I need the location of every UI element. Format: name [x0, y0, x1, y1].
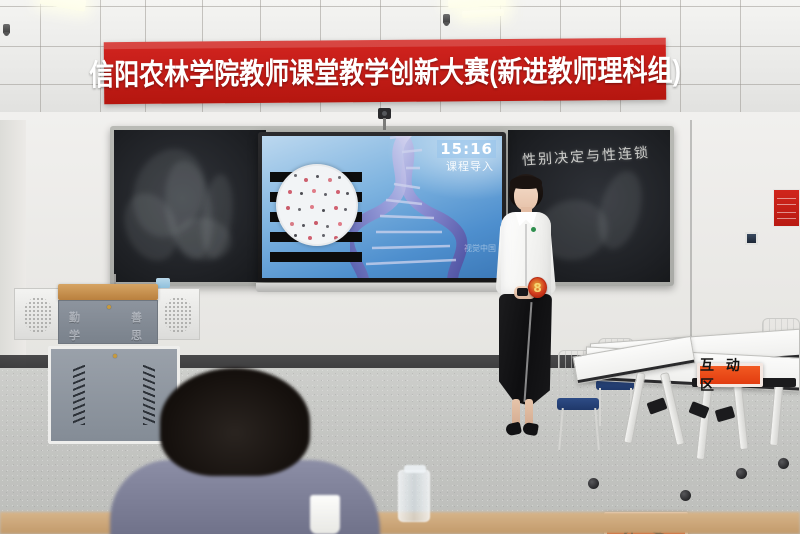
wall-notice-placard — [773, 189, 800, 227]
sprinkler-head — [443, 14, 450, 24]
presenter-shoe-left — [505, 422, 522, 437]
speaker-mesh-icon — [164, 297, 192, 333]
sign-interaction-zone: 互 动 区 — [697, 363, 763, 387]
podium-upper-panel: 勤 善 学 思 — [58, 300, 158, 344]
audience-hair — [160, 368, 310, 476]
presenter: 8 — [487, 174, 563, 436]
presentation-clicker[interactable] — [517, 288, 528, 296]
speaker-mesh-icon — [24, 297, 52, 333]
screen-clock: 15:16 — [437, 140, 496, 158]
podium-character: 思 — [131, 327, 142, 343]
table-caster — [736, 468, 747, 479]
interactive-display[interactable]: 15:16 课程导入 视觉中国 — [258, 132, 506, 282]
podium-character: 勤 — [69, 309, 80, 325]
podium-character: 学 — [69, 327, 80, 343]
podium-wood-top — [58, 284, 158, 300]
presenter-shoe-right — [522, 422, 539, 436]
sprinkler-head — [3, 24, 10, 34]
blackboard-left-panel — [114, 130, 266, 282]
classroom-photo: 信阳农林学院教师课堂教学创新大赛(新进教师理科组) 性别决定与性连锁 — [0, 0, 800, 534]
camera-mount — [383, 118, 386, 130]
blackboard-handwriting: 性别决定与性连锁 — [522, 142, 651, 170]
display-control-bar[interactable] — [256, 283, 508, 292]
sign-label: 互 动 区 — [700, 355, 760, 395]
paper-cup — [310, 495, 340, 534]
banner-text: 信阳农林学院教师课堂教学创新大赛(新进教师理科组) — [89, 47, 681, 94]
table-caster — [588, 478, 599, 489]
table-caster — [680, 490, 691, 501]
podium-character: 善 — [131, 309, 142, 325]
display-content: 15:16 课程导入 视觉中国 — [262, 136, 502, 278]
podium-speaker-left — [14, 288, 60, 340]
competition-banner: 信阳农林学院教师课堂教学创新大赛(新进教师理科组) — [104, 38, 666, 104]
wall-seam — [690, 120, 692, 360]
podium-speaker-right — [154, 288, 200, 340]
molecule-closeup — [276, 164, 358, 246]
presenter-lapel-pin — [531, 227, 536, 232]
podium-cup — [156, 278, 170, 288]
wall-sensor-device — [745, 232, 758, 245]
contestant-number-badge: 8 — [528, 277, 547, 298]
table-caster — [778, 458, 789, 469]
screen-subtitle: 课程导入 — [446, 158, 494, 174]
presenter-bangs — [510, 176, 542, 189]
podium-vent-left — [73, 365, 85, 425]
glass-bottle — [398, 470, 430, 522]
